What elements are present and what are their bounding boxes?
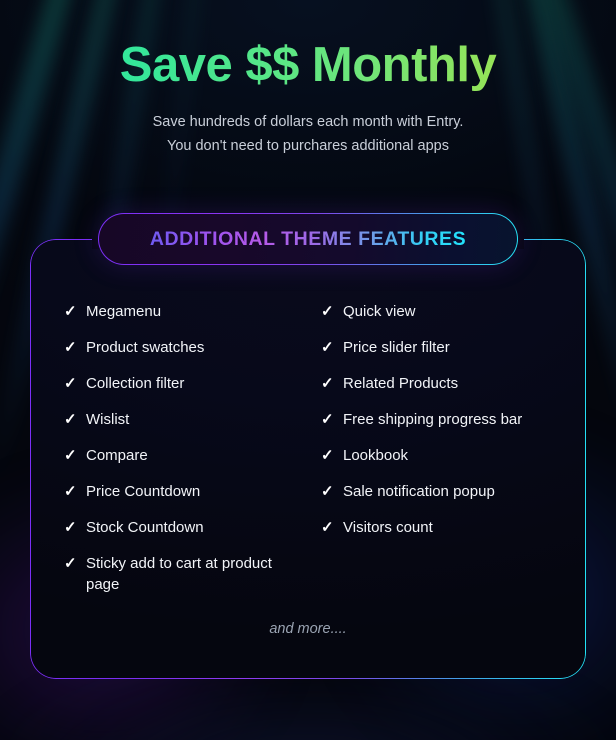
feature-item: ✓Compare [64,445,295,466]
hero-subtitle-line-1: Save hundreds of dollars each month with… [0,111,616,134]
feature-item-label: Price slider filter [343,337,450,358]
feature-item: ✓Related Products [321,373,552,394]
page-title: Save $$ Monthly [0,40,616,91]
feature-item: ✓Sale notification popup [321,481,552,502]
check-icon: ✓ [321,301,334,322]
check-icon: ✓ [64,517,77,538]
check-icon: ✓ [64,445,77,466]
additional-theme-features-badge: ADDITIONAL THEME FEATURES [98,213,518,265]
feature-item: ✓Free shipping progress bar [321,409,552,430]
feature-item: ✓Product swatches [64,337,295,358]
feature-item-label: Quick view [343,301,416,322]
feature-item-label: Visitors count [343,517,433,538]
feature-item: ✓Megamenu [64,301,295,322]
feature-item-label: Price Countdown [86,481,200,502]
feature-item: ✓Quick view [321,301,552,322]
feature-item: ✓Wislist [64,409,295,430]
feature-item-label: Free shipping progress bar [343,409,522,430]
feature-item-label: Wislist [86,409,129,430]
check-icon: ✓ [64,481,77,502]
check-icon: ✓ [64,337,77,358]
feature-item: ✓Stock Countdown [64,517,295,538]
feature-item: ✓Sticky add to cart at product page [64,553,295,595]
check-icon: ✓ [64,373,77,394]
feature-item: ✓Price Countdown [64,481,295,502]
hero-subtitle-line-2: You don't need to purchares additional a… [0,135,616,158]
feature-item-label: Stock Countdown [86,517,204,538]
check-icon: ✓ [321,517,334,538]
check-icon: ✓ [321,481,334,502]
feature-item: ✓Collection filter [64,373,295,394]
feature-item-label: Lookbook [343,445,408,466]
feature-item-label: Product swatches [86,337,204,358]
features-columns: ✓Megamenu✓Product swatches✓Collection fi… [64,301,552,610]
feature-item-label: Sticky add to cart at product page [86,553,295,595]
check-icon: ✓ [321,445,334,466]
feature-item: ✓Visitors count [321,517,552,538]
check-icon: ✓ [321,409,334,430]
features-card-body: ✓Megamenu✓Product swatches✓Collection fi… [30,239,586,679]
badge-inner: ADDITIONAL THEME FEATURES [99,214,516,263]
check-icon: ✓ [64,409,77,430]
feature-item-label: Sale notification popup [343,481,495,502]
feature-item: ✓Price slider filter [321,337,552,358]
feature-item-label: Collection filter [86,373,184,394]
promo-banner: Save $$ Monthly Save hundreds of dollars… [0,0,616,740]
check-icon: ✓ [64,301,77,322]
badge-label: ADDITIONAL THEME FEATURES [150,228,466,251]
features-column-right: ✓Quick view✓Price slider filter✓Related … [321,301,552,610]
check-icon: ✓ [64,553,77,574]
feature-item-label: Compare [86,445,148,466]
check-icon: ✓ [321,337,334,358]
features-card: ADDITIONAL THEME FEATURES ✓Megamenu✓Prod… [30,239,586,679]
features-column-left: ✓Megamenu✓Product swatches✓Collection fi… [64,301,295,610]
feature-item: ✓Lookbook [321,445,552,466]
hero-subtitle: Save hundreds of dollars each month with… [0,111,616,158]
feature-item-label: Related Products [343,373,458,394]
feature-item-label: Megamenu [86,301,161,322]
and-more-note: and more.... [30,621,586,637]
check-icon: ✓ [321,373,334,394]
hero-header: Save $$ Monthly Save hundreds of dollars… [0,40,616,158]
